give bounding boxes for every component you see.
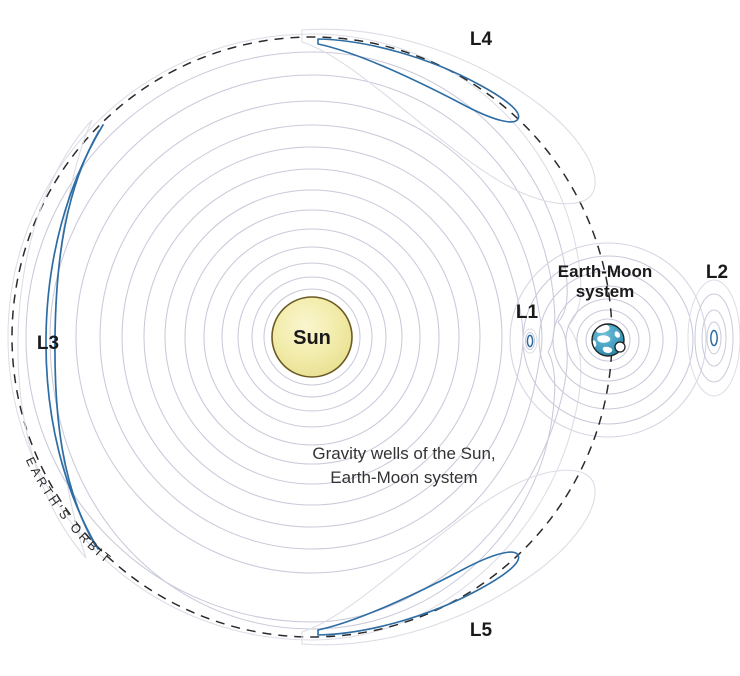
earth-moon-body-group <box>591 324 625 356</box>
L1-marker-group <box>523 329 537 353</box>
caption-line1: Gravity wells of the Sun, <box>312 444 495 463</box>
label-L5: L5 <box>470 620 493 641</box>
label-L4: L4 <box>470 29 493 50</box>
L2-marker-group <box>688 280 740 396</box>
label-earth-moon-line2: system <box>576 282 635 301</box>
label-L1: L1 <box>516 302 539 323</box>
L2-contour-mid <box>695 294 733 382</box>
gravity-well-diagram: Sun L1 L2 L3 L4 L5 Earth-Moon system Gra… <box>0 0 740 676</box>
sun-body-group: Sun <box>272 297 352 377</box>
label-L3: L3 <box>37 333 59 354</box>
earth-orbit-label: EARTH'S ORBIT <box>23 455 115 568</box>
label-earth-moon-line1: Earth-Moon <box>558 262 652 281</box>
moon-disc <box>615 342 625 352</box>
L1-point-icon <box>527 335 532 346</box>
caption-line2: Earth-Moon system <box>330 468 477 487</box>
L3-crescent-group <box>18 120 103 558</box>
sun-label: Sun <box>293 327 331 349</box>
earth-orbit-label-path: EARTH'S ORBIT <box>23 455 115 568</box>
L3-arc-blue-lower <box>55 131 99 545</box>
diagram-canvas: Sun L1 L2 L3 L4 L5 Earth-Moon system Gra… <box>0 0 740 676</box>
L4-arc-blue <box>318 39 519 122</box>
label-L2: L2 <box>706 262 728 283</box>
L2-contour-outer <box>688 280 740 396</box>
L2-point-icon <box>711 331 717 346</box>
L2-contour-core <box>707 322 721 354</box>
